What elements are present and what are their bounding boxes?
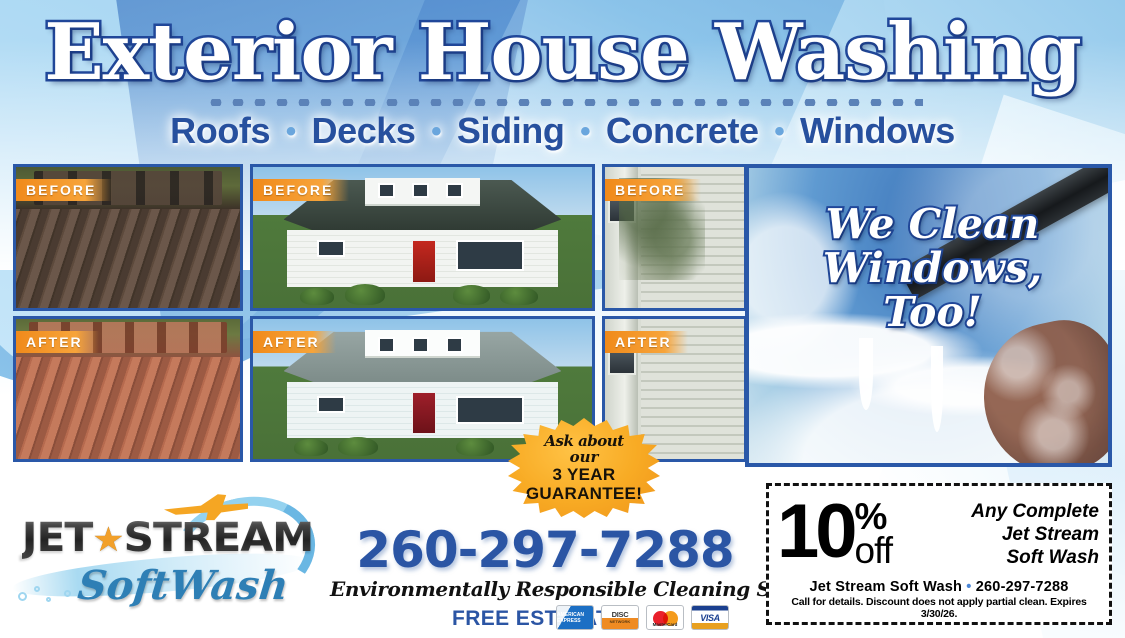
we-clean-windows-panel: We Clean Windows, Too!	[745, 164, 1112, 467]
windows-line-3: Too!	[749, 290, 1112, 334]
photo-column-deck: BEFORE AFTER	[13, 164, 243, 462]
before-label: BEFORE	[605, 179, 701, 201]
window	[378, 337, 395, 352]
coupon-business-line: Jet Stream Soft Wash • 260-297-7288	[777, 579, 1101, 595]
window	[317, 240, 344, 257]
company-logo[interactable]: JET★STREAM SoftWash	[12, 492, 322, 632]
coupon-main-row: 10 % off Any Complete Jet Stream Soft Wa…	[777, 490, 1101, 578]
coupon-business-name: Jet Stream Soft Wash	[810, 579, 963, 595]
windows-line-1: We Clean	[749, 202, 1112, 246]
bullet-separator-icon: •	[280, 115, 302, 148]
tagline: Environmentally Responsible Cleaning Sol…	[330, 576, 760, 602]
windows-line-2: Windows,	[749, 246, 1112, 290]
guarantee-line-2: our	[570, 449, 599, 465]
photo-deck-after: AFTER	[13, 316, 243, 462]
guarantee-line-1: Ask about	[544, 434, 623, 449]
front-door-red	[412, 240, 436, 282]
coupon-percent-off-stack: % off	[855, 500, 892, 568]
shrub	[453, 285, 490, 305]
service-siding: Siding	[457, 110, 565, 151]
dotted-divider	[205, 99, 923, 106]
coupon-percent-sign: %	[855, 500, 892, 534]
window	[412, 183, 429, 199]
window	[317, 396, 344, 413]
service-roofs: Roofs	[170, 110, 270, 151]
service-decks: Decks	[311, 110, 415, 151]
photo-column-siding: BEFORE AFTER	[602, 164, 747, 462]
window	[456, 396, 524, 424]
discover-label: DISC	[612, 611, 629, 618]
shrub	[456, 438, 493, 456]
water-droplets-icon	[18, 586, 138, 608]
logo-wordmark: JET★STREAM	[22, 518, 313, 560]
shrub	[500, 287, 537, 305]
photo-house-before: BEFORE	[250, 164, 595, 311]
phone-number[interactable]: 260-297-7288	[330, 524, 760, 576]
window	[378, 183, 395, 199]
photo-column-house: BEFORE AFTER	[250, 164, 595, 462]
photo-siding-before: BEFORE	[602, 164, 747, 311]
logo-word-jet: JET	[22, 515, 92, 561]
coupon-off-word: off	[855, 534, 892, 568]
discover-card-icon: DISC NETWORK	[601, 605, 639, 630]
coupon-description: Any Complete Jet Stream Soft Wash	[971, 500, 1101, 569]
bullet-separator-icon: •	[425, 115, 447, 148]
service-windows: Windows	[800, 110, 955, 151]
advertisement-flyer: Exterior House Washing Roofs • Decks • S…	[0, 0, 1125, 638]
window	[412, 337, 429, 352]
photo-deck-before: BEFORE	[13, 164, 243, 311]
windows-panel-text: We Clean Windows, Too!	[749, 202, 1112, 334]
after-label: AFTER	[605, 331, 688, 353]
after-label: AFTER	[16, 331, 99, 353]
before-label: BEFORE	[253, 179, 349, 201]
bullet-separator-icon: •	[768, 115, 790, 148]
mastercard-label: MasterCard	[647, 622, 683, 627]
shrub	[338, 437, 379, 457]
page-title: Exterior House Washing	[0, 14, 1125, 92]
coupon-desc-line-2: Jet Stream	[971, 523, 1099, 546]
amex-card-icon: AMERICAN EXPRESS	[556, 605, 594, 630]
window	[446, 337, 463, 352]
air-conditioner-unit	[608, 198, 636, 223]
coupon-number: 10	[777, 500, 854, 564]
amex-label: AMERICAN EXPRESS	[557, 612, 590, 624]
bullet-separator-icon: •	[966, 579, 971, 595]
coupon-discount-amount: 10 % off	[777, 500, 892, 568]
logo-word-stream: STREAM	[123, 515, 313, 561]
coupon-desc-line-3: Soft Wash	[971, 546, 1099, 569]
mastercard-card-icon: MasterCard	[646, 605, 684, 630]
discount-coupon[interactable]: 10 % off Any Complete Jet Stream Soft Wa…	[766, 483, 1112, 625]
services-list: Roofs • Decks • Siding • Concrete • Wind…	[0, 110, 1125, 152]
shrub	[294, 439, 328, 456]
star-icon: ★	[92, 520, 123, 560]
window	[456, 240, 524, 271]
bullet-separator-icon: •	[574, 115, 596, 148]
coupon-desc-line-1: Any Complete	[971, 500, 1099, 523]
guarantee-line-4: GUARANTEE!	[526, 484, 642, 503]
after-label: AFTER	[253, 331, 336, 353]
guarantee-line-3: 3 YEAR	[553, 465, 616, 484]
soap-drip	[859, 338, 873, 410]
window	[446, 183, 463, 199]
coupon-fine-print: Call for details. Discount does not appl…	[777, 596, 1101, 620]
payment-methods: AMERICAN EXPRESS DISC NETWORK MasterCard…	[556, 605, 729, 630]
service-concrete: Concrete	[606, 110, 759, 151]
visa-card-icon: VISA	[691, 605, 729, 630]
front-door-red	[412, 392, 436, 434]
shrub	[345, 284, 386, 305]
shrub	[300, 288, 334, 305]
soap-drip	[931, 346, 943, 432]
air-conditioner-unit	[608, 350, 636, 375]
discover-sub: NETWORK	[610, 618, 631, 625]
before-label: BEFORE	[16, 179, 112, 201]
coupon-business-phone[interactable]: 260-297-7288	[976, 579, 1069, 595]
